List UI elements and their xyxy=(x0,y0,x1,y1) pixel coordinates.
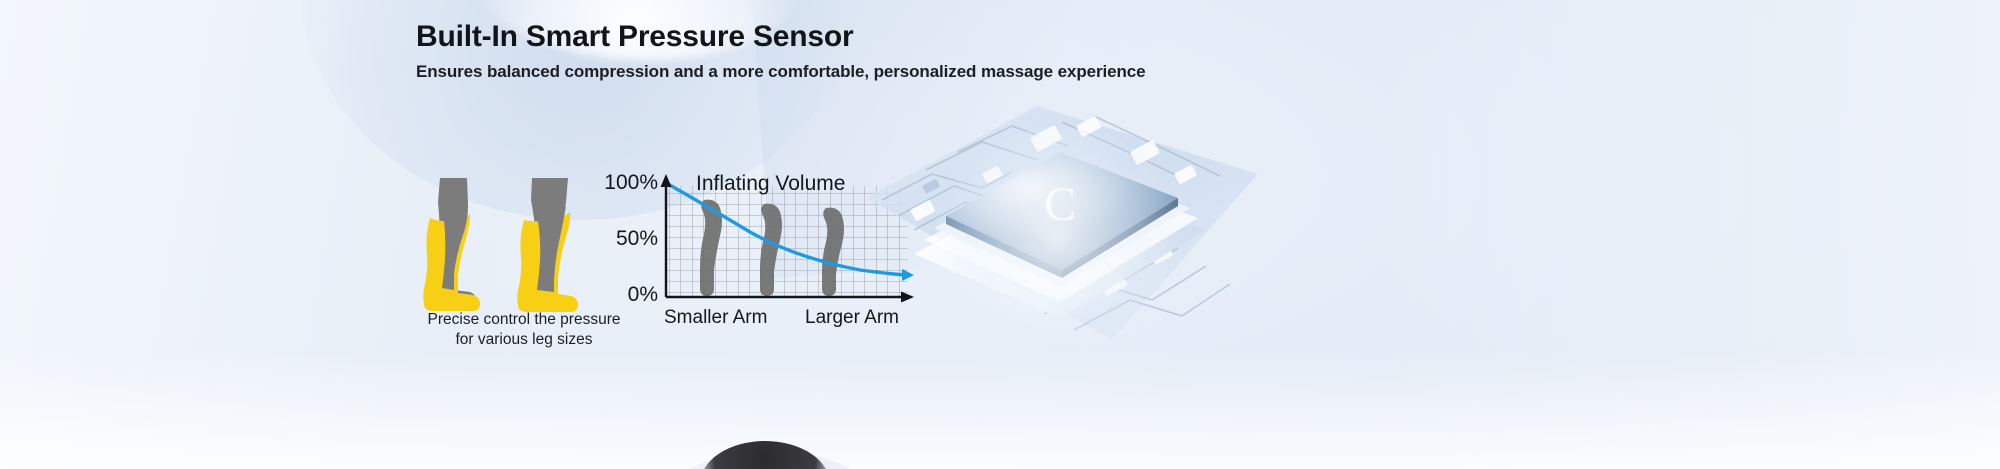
legs-svg xyxy=(418,178,623,318)
x-tick-smaller-arm: Smaller Arm xyxy=(664,307,767,329)
y-tick-100: 100% xyxy=(604,171,658,194)
background-bottom-fade xyxy=(0,349,2000,469)
chart-title-annotation: Inflating Volume xyxy=(696,172,845,195)
chip-illustration: C xyxy=(862,78,1262,378)
chip-logo-glyph: C xyxy=(1044,178,1076,231)
legs-caption: Precise control the pressure for various… xyxy=(418,310,630,351)
legs-caption-line2: for various leg sizes xyxy=(456,331,593,348)
legs-caption-line1: Precise control the pressure xyxy=(428,311,621,328)
banner-root: Built-In Smart Pressure Sensor Ensures b… xyxy=(0,0,2000,469)
leg-right-icon xyxy=(517,178,578,312)
circuit-board-svg: C xyxy=(862,78,1262,378)
chart-y-axis-arrow xyxy=(661,174,672,187)
legs-illustration xyxy=(418,178,623,318)
leg-left-icon xyxy=(423,178,480,311)
y-tick-0: 0% xyxy=(628,283,658,306)
page-title: Built-In Smart Pressure Sensor xyxy=(416,20,853,54)
y-tick-50: 50% xyxy=(616,227,658,250)
